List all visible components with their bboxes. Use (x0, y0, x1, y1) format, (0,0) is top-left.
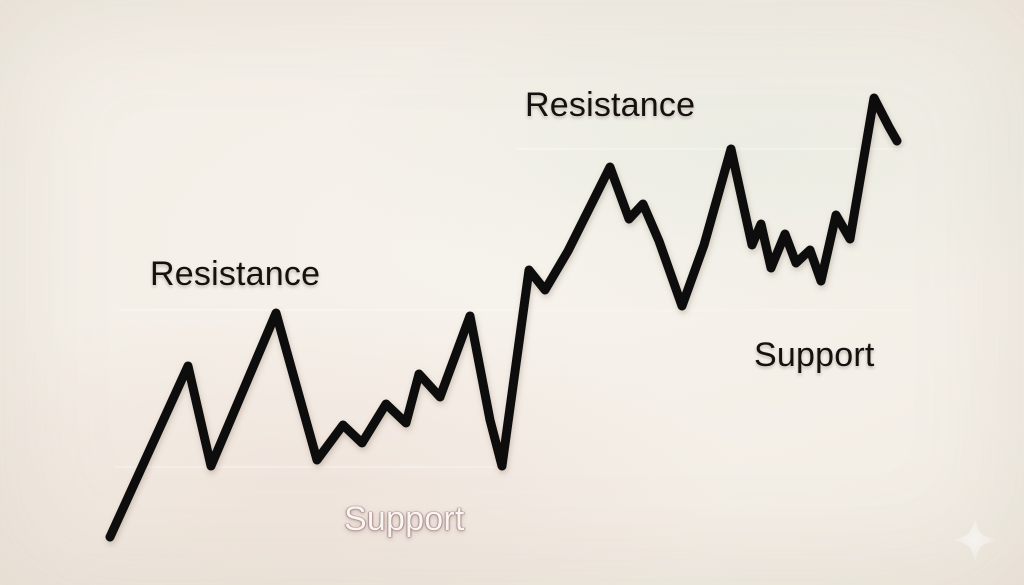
label-support-lower: Support (344, 500, 464, 539)
chart-canvas: ResistanceResistanceSupportSupport (0, 0, 1024, 585)
label-support-right: Support (754, 336, 874, 375)
label-resistance-upper: Resistance (525, 86, 695, 125)
sparkle-watermark (953, 518, 997, 562)
label-resistance-lower: Resistance (150, 255, 320, 294)
